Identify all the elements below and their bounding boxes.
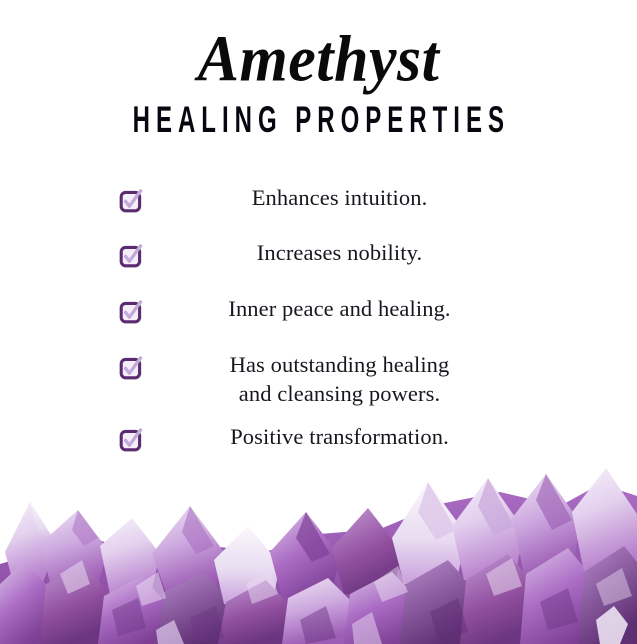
list-item-label: Enhances intuition.: [210, 183, 428, 212]
list-item-row: Inner peace and healing.: [119, 294, 519, 323]
amethyst-healing-properties-poster: Amethyst HEALING PROPERTIES Enhances int…: [0, 0, 637, 644]
list-item[interactable]: Inner peace and healing.: [0, 294, 637, 323]
list-item-label: Increases nobility.: [215, 238, 422, 267]
amethyst-crystal-cluster-photo: [0, 434, 637, 644]
page-title: Amethyst: [0, 26, 637, 92]
list-item-row: Increases nobility.: [119, 238, 519, 267]
list-item[interactable]: Has outstanding healing and cleansing po…: [0, 350, 637, 409]
poster-header: Amethyst HEALING PROPERTIES: [0, 0, 637, 136]
checked-checkbox-icon[interactable]: [119, 356, 143, 380]
page-subtitle: HEALING PROPERTIES: [64, 103, 574, 140]
list-item[interactable]: Enhances intuition.: [0, 183, 637, 212]
checked-checkbox-icon[interactable]: [119, 244, 143, 268]
checked-checkbox-icon[interactable]: [119, 189, 143, 213]
list-item-row: Has outstanding healing and cleansing po…: [119, 350, 519, 409]
list-item-label: Has outstanding healing and cleansing po…: [188, 350, 450, 409]
checked-checkbox-icon[interactable]: [119, 300, 143, 324]
list-item-row: Enhances intuition.: [119, 183, 519, 212]
list-item[interactable]: Increases nobility.: [0, 238, 637, 267]
list-item-label: Inner peace and healing.: [186, 294, 450, 323]
